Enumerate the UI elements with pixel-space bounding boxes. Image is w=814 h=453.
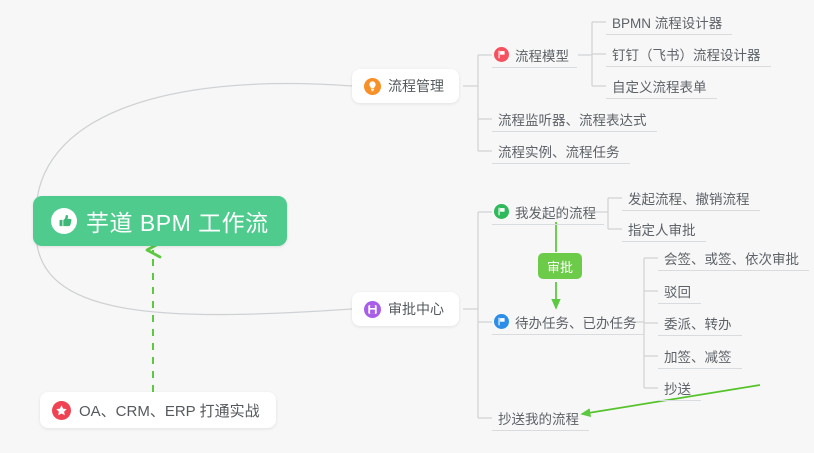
thumbs-up-icon (51, 208, 77, 234)
sub-label-my-initiated-process: 我发起的流程 (515, 202, 596, 222)
leaf-node-process-instance-task[interactable]: 流程实例、流程任务 (492, 138, 630, 164)
approval-flow-tag[interactable]: 审批 (538, 253, 582, 279)
branch-node-process-management[interactable]: 流程管理 (352, 69, 459, 103)
leaf-label-bpmn-designer: BPMN 流程设计器 (612, 12, 722, 32)
leaf-label-custom-process-form: 自定义流程表单 (612, 76, 707, 96)
leaf-node-add-remove-sign[interactable]: 加签、减签 (658, 343, 742, 369)
leaf-node-assignee-approval[interactable]: 指定人审批 (622, 216, 706, 242)
branch-label-approval-center: 审批中心 (388, 299, 444, 319)
flag-icon-red (494, 47, 509, 62)
leaf-label-carbon-copy: 抄送 (664, 378, 691, 398)
sub-node-todo-done-task[interactable]: 待办任务、已办任务 (492, 309, 645, 335)
leaf-label-reject: 驳回 (664, 281, 691, 301)
leaf-label-countersign: 会签、或签、依次审批 (664, 248, 799, 268)
leaf-label-dingtalk-feishu-designer: 钉钉（飞书）流程设计器 (612, 44, 761, 64)
flag-icon-green (494, 204, 509, 219)
root-node[interactable]: 芋道 BPM 工作流 (33, 196, 287, 246)
sub-label-todo-done-task: 待办任务、已办任务 (515, 312, 637, 332)
leaf-label-add-remove-sign: 加签、减签 (664, 346, 732, 366)
leaf-node-countersign[interactable]: 会签、或签、依次审批 (658, 245, 809, 271)
callout-label-integration-practice: OA、CRM、ERP 打通实战 (79, 400, 260, 421)
leaf-node-delegate-transfer[interactable]: 委派、转办 (658, 310, 742, 336)
sub-node-process-model[interactable]: 流程模型 (492, 42, 577, 68)
star-icon (52, 401, 71, 420)
branch-node-approval-center[interactable]: 审批中心 (352, 292, 459, 326)
leaf-label-cc-to-me-process: 抄送我的流程 (498, 408, 579, 428)
edge-root-to-process-management (36, 84, 352, 214)
leaf-label-delegate-transfer: 委派、转办 (664, 313, 732, 333)
leaf-node-cc-to-me-process[interactable]: 抄送我的流程 (492, 405, 589, 431)
leaf-node-dingtalk-feishu-designer[interactable]: 钉钉（飞书）流程设计器 (606, 41, 771, 67)
leaf-node-reject[interactable]: 驳回 (658, 278, 701, 304)
root-node-label: 芋道 BPM 工作流 (86, 204, 269, 238)
clipboard-icon (364, 301, 381, 318)
leaf-label-process-instance-task: 流程实例、流程任务 (498, 141, 620, 161)
leaf-label-assignee-approval: 指定人审批 (628, 219, 696, 239)
leaf-label-start-cancel-process: 发起流程、撤销流程 (628, 188, 750, 208)
sub-node-my-initiated-process[interactable]: 我发起的流程 (492, 199, 604, 225)
mindmap-canvas: 芋道 BPM 工作流 流程管理 流程模型 BPMN 流程设计器 钉钉（飞书）流程 (0, 0, 814, 453)
leaf-node-process-listener[interactable]: 流程监听器、流程表达式 (492, 106, 657, 132)
leaf-label-process-listener: 流程监听器、流程表达式 (498, 109, 647, 129)
branch-label-process-management: 流程管理 (388, 76, 444, 96)
callout-node-integration-practice[interactable]: OA、CRM、ERP 打通实战 (40, 392, 276, 428)
leaf-node-carbon-copy[interactable]: 抄送 (658, 375, 701, 401)
sub-label-process-model: 流程模型 (515, 45, 569, 65)
leaf-node-bpmn-designer[interactable]: BPMN 流程设计器 (606, 9, 732, 35)
lightbulb-icon (364, 78, 381, 95)
leaf-node-custom-process-form[interactable]: 自定义流程表单 (606, 73, 717, 99)
flag-icon-blue (494, 314, 509, 329)
approval-flow-tag-label: 审批 (547, 257, 573, 276)
leaf-node-start-cancel-process[interactable]: 发起流程、撤销流程 (622, 185, 760, 211)
